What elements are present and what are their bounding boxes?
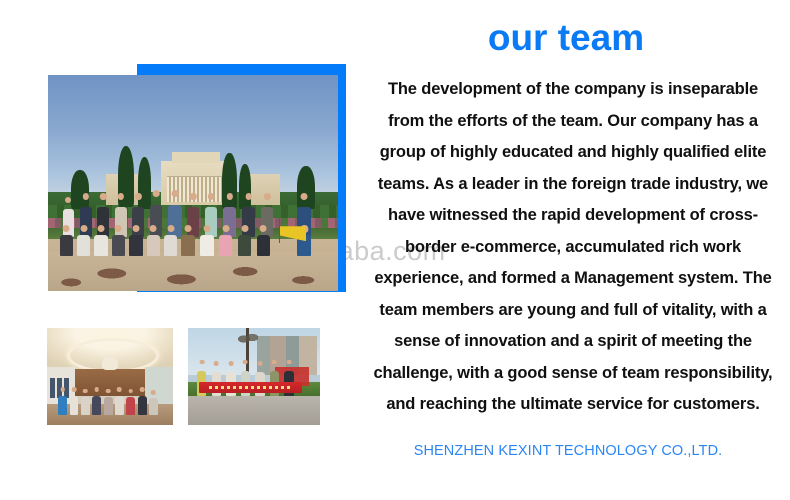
person-figure — [205, 207, 217, 237]
person-figure — [94, 235, 107, 257]
person-figure — [92, 396, 101, 415]
person-figure — [187, 207, 199, 237]
cypress-tree — [138, 157, 151, 209]
hero-photo-scene — [48, 75, 338, 291]
body-paragraph: The development of the company is insepa… — [368, 74, 778, 421]
person-figure — [58, 396, 67, 415]
person-figure — [60, 235, 73, 257]
person-figure — [80, 207, 92, 237]
text-column: our team The development of the company … — [360, 0, 790, 500]
person-figure — [63, 209, 75, 237]
pennant-pole — [279, 209, 280, 244]
decorative-vase — [102, 357, 117, 370]
person-figure — [223, 207, 235, 237]
red-company-banner — [199, 382, 302, 393]
cypress-tree — [222, 153, 237, 209]
lobby-team-photo[interactable] — [47, 328, 173, 425]
palace-wing-right — [248, 174, 280, 204]
person-figure — [164, 235, 177, 257]
cypress-tree — [239, 164, 251, 209]
cypress-tree — [297, 166, 314, 209]
photo-collage: kexint.en.alibaba.com kexint.en.alibaba.… — [0, 0, 360, 500]
cypress-tree — [71, 170, 88, 209]
person-figure — [200, 235, 213, 257]
person-figure — [238, 235, 251, 257]
person-figure — [132, 207, 144, 237]
person-figure — [219, 235, 232, 257]
person-figure — [149, 398, 158, 415]
person-figure — [257, 235, 270, 257]
person-figure — [181, 235, 194, 257]
person-figure — [129, 235, 142, 257]
page-title: our team — [360, 17, 772, 59]
person-figure — [242, 207, 255, 237]
person-figure — [115, 207, 127, 237]
person-figure — [147, 235, 160, 257]
person-figure — [112, 235, 125, 257]
person-figure — [81, 397, 90, 415]
person-figure — [104, 397, 113, 415]
banner-team-photo[interactable] — [188, 328, 320, 425]
person-figure — [115, 396, 124, 415]
hero-team-photo[interactable]: kexint.en.alibaba.com — [48, 75, 338, 291]
person-figure — [138, 396, 147, 415]
mosaic-pavement-pattern — [48, 252, 338, 291]
person-figure — [261, 207, 273, 237]
banner-photo-scene — [188, 328, 320, 425]
person-figure — [97, 207, 109, 237]
company-name: SHENZHEN KEXINT TECHNOLOGY CO.,LTD. — [360, 443, 776, 459]
person-figure — [70, 396, 79, 415]
person-figure — [126, 397, 135, 415]
team-intro-page: kexint.en.alibaba.com kexint.en.alibaba.… — [0, 0, 790, 500]
lobby-photo-scene — [47, 328, 173, 425]
pavement — [188, 396, 320, 425]
person-figure — [77, 235, 90, 257]
